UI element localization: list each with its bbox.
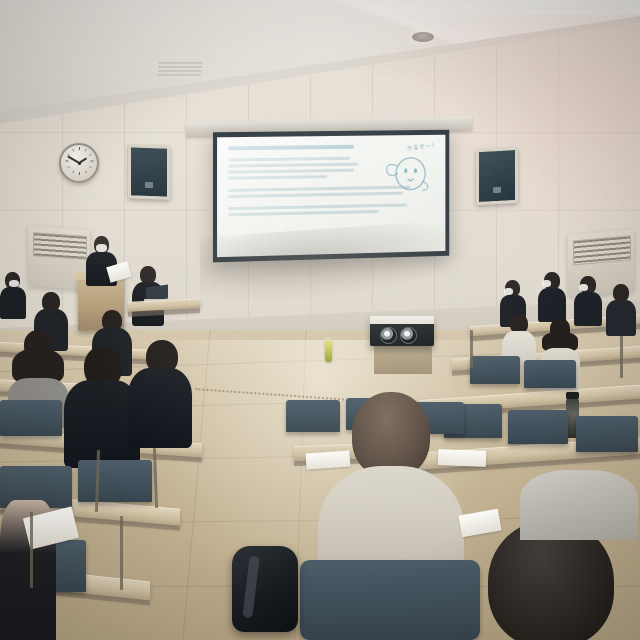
audience-person — [574, 276, 602, 324]
audience-person — [0, 272, 26, 316]
table-leg — [30, 512, 33, 588]
table-leg — [620, 336, 623, 378]
speaker-icon-left — [128, 144, 170, 199]
downlight-icon — [412, 32, 434, 42]
chair-foreground — [300, 560, 480, 640]
chair — [0, 400, 62, 436]
chair — [78, 460, 152, 502]
projector — [370, 316, 434, 346]
slide-paragraph-3 — [228, 203, 434, 216]
drink-bottle-cap — [325, 337, 332, 341]
table-leg — [470, 330, 473, 368]
mascot-character-icon — [375, 146, 435, 198]
lecture-hall-photo: やるぞー！ — [0, 0, 640, 640]
dark-drink-bottle-cap — [566, 392, 579, 399]
chair — [508, 410, 568, 444]
audience-person — [128, 340, 192, 446]
ceiling-vent-icon — [157, 62, 202, 76]
projector-lens-left — [380, 327, 397, 344]
slide-title-line — [228, 145, 353, 151]
chair — [576, 416, 638, 452]
audience-person — [520, 470, 638, 540]
table-leg — [120, 516, 123, 590]
audience-person — [606, 284, 636, 334]
clock-center-pin — [78, 162, 81, 165]
chair — [470, 356, 520, 384]
screen-surface: やるぞー！ — [217, 135, 445, 257]
projection-screen: やるぞー！ — [213, 130, 449, 263]
projector-lens-right — [400, 327, 417, 344]
speaker-icon-right — [476, 147, 518, 205]
projector-stand — [374, 344, 432, 374]
audience-person — [538, 272, 566, 320]
wall-clock — [59, 143, 99, 183]
backpack — [232, 546, 298, 632]
chair — [524, 360, 576, 388]
presentation-slide: やるぞー！ — [217, 135, 445, 257]
drink-bottle — [325, 340, 332, 362]
